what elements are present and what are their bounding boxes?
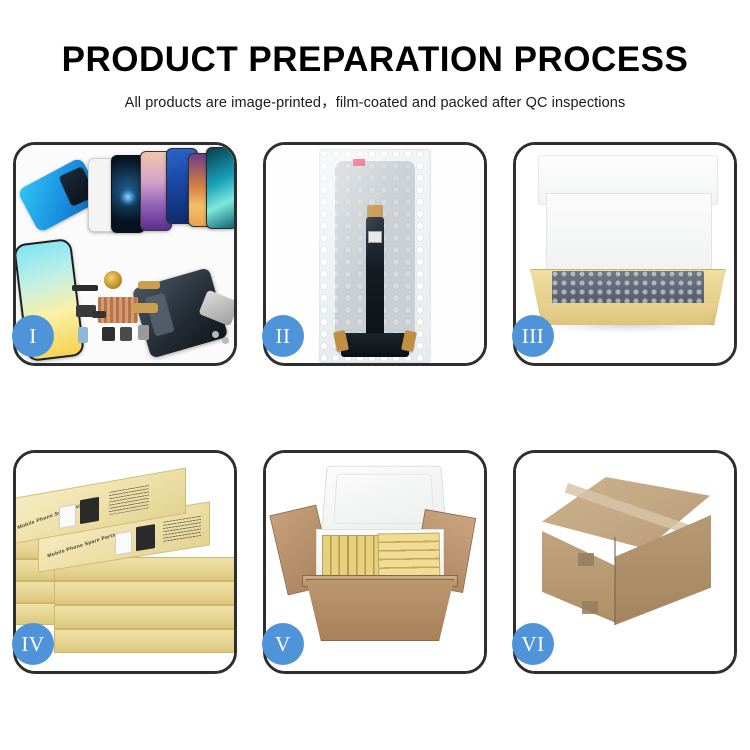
box-spec-lines-2 [163, 516, 201, 544]
step-badge-2: II [262, 315, 304, 357]
box-art-screen-black-2 [136, 524, 155, 551]
step-badge-4: IV [12, 623, 54, 665]
part-antenna-strip [92, 311, 106, 318]
step-panel-1: I [13, 142, 237, 366]
foam-sheet [546, 193, 712, 277]
step-badge-5: V [262, 623, 304, 665]
lcd-driver-chip [368, 231, 382, 243]
part-camera-module [102, 327, 115, 341]
carton-label-lower [582, 601, 598, 614]
carton-front-panel [306, 579, 454, 641]
step-badge-3: III [512, 315, 554, 357]
bubble-wrapped-product [552, 271, 704, 305]
box-drop-shadow [542, 325, 714, 333]
step-panel-6: VI [513, 450, 737, 674]
header: PRODUCT PREPARATION PROCESS All products… [0, 0, 750, 112]
step-panel-5: V [263, 450, 487, 674]
box-art-screen-black-1 [80, 497, 99, 524]
carton-corner-seam [614, 537, 616, 625]
page-subtitle: All products are image-printed，film-coat… [0, 77, 750, 112]
carton-label-upper [578, 553, 594, 566]
qc-sticker [353, 159, 365, 166]
process-steps-grid: I II [13, 142, 738, 674]
box-art-screen-white-2 [115, 531, 132, 556]
kraft-box-front-panel [538, 303, 718, 325]
lcd-bottom-assembly [341, 333, 409, 357]
step-badge-6: VI [512, 623, 554, 665]
phone-screen-teal [206, 147, 234, 229]
part-earpiece-bar [72, 285, 98, 291]
retail-box-stack-front-3 [54, 581, 234, 605]
part-speaker-module [120, 327, 132, 341]
part-sim-tray [78, 327, 88, 343]
part-flex-cable-1 [138, 281, 160, 289]
part-wireless-coil [104, 271, 122, 289]
step-panel-4: Mobile Phone Spare Parts Mobile Phone Sp… [13, 450, 237, 674]
part-vibrator-motor [138, 325, 149, 340]
step-badge-1: I [12, 315, 54, 357]
box-art-screen-white-1 [59, 504, 76, 529]
carton-left-face [542, 531, 616, 623]
step-panel-2: II [263, 142, 487, 366]
page-title: PRODUCT PREPARATION PROCESS [0, 0, 750, 77]
box-spec-lines-1 [109, 485, 149, 515]
retail-box-stack-front-4 [54, 605, 234, 629]
part-flex-cable-2 [132, 303, 158, 313]
product-preparation-infographic: PRODUCT PREPARATION PROCESS All products… [0, 0, 750, 750]
part-screw-2 [222, 337, 229, 344]
retail-box-stack-front-5 [54, 629, 234, 653]
part-screw-1 [212, 331, 219, 338]
step-panel-3: III [513, 142, 737, 366]
